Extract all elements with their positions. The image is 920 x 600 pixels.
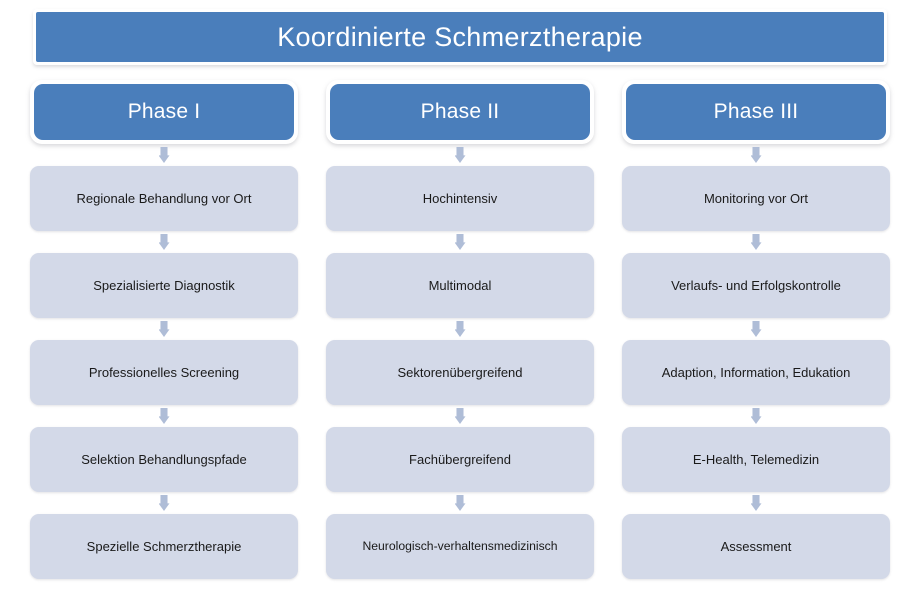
phase-header-frame-1: Phase I: [30, 80, 298, 144]
phase-header-label-1: Phase I: [128, 100, 201, 124]
connector-2-0: [326, 144, 594, 166]
step-box-3-3[interactable]: Adaption, Information, Edukation: [622, 340, 890, 405]
step-label-2-5: Neurologisch-verhaltensmedizinisch: [362, 539, 557, 554]
down-arrow-icon: [751, 234, 762, 250]
phase-header-label-3: Phase III: [714, 100, 799, 124]
connector-1-3: [30, 405, 298, 427]
down-arrow-icon: [455, 408, 466, 424]
step-box-2-3[interactable]: Sektorenübergreifend: [326, 340, 594, 405]
down-arrow-icon: [751, 495, 762, 511]
step-box-3-5[interactable]: Assessment: [622, 514, 890, 579]
step-box-3-4[interactable]: E-Health, Telemedizin: [622, 427, 890, 492]
connector-1-1: [30, 231, 298, 253]
step-label-3-5: Assessment: [721, 539, 792, 555]
step-label-1-3: Professionelles Screening: [89, 365, 239, 381]
step-label-1-5: Spezielle Schmerztherapie: [87, 539, 242, 555]
step-box-1-5[interactable]: Spezielle Schmerztherapie: [30, 514, 298, 579]
connector-3-2: [622, 318, 890, 340]
connector-2-3: [326, 405, 594, 427]
step-label-2-2: Multimodal: [429, 278, 492, 294]
step-label-3-3: Adaption, Information, Edukation: [662, 365, 851, 381]
connector-1-4: [30, 492, 298, 514]
connector-3-1: [622, 231, 890, 253]
phase-header-1[interactable]: Phase I: [34, 84, 294, 140]
step-label-3-2: Verlaufs- und Erfolgskontrolle: [671, 278, 841, 294]
phase-header-frame-2: Phase II: [326, 80, 594, 144]
step-box-2-4[interactable]: Fachübergreifend: [326, 427, 594, 492]
down-arrow-icon: [455, 147, 466, 163]
phase-column-1: Phase I Regionale Behandlung vor Ort Spe…: [30, 80, 298, 579]
down-arrow-icon: [455, 495, 466, 511]
step-label-2-4: Fachübergreifend: [409, 452, 511, 468]
step-box-3-2[interactable]: Verlaufs- und Erfolgskontrolle: [622, 253, 890, 318]
step-box-1-3[interactable]: Professionelles Screening: [30, 340, 298, 405]
connector-1-2: [30, 318, 298, 340]
down-arrow-icon: [159, 408, 170, 424]
step-box-1-4[interactable]: Selektion Behandlungspfade: [30, 427, 298, 492]
connector-2-1: [326, 231, 594, 253]
connector-3-4: [622, 492, 890, 514]
down-arrow-icon: [751, 408, 762, 424]
down-arrow-icon: [455, 321, 466, 337]
step-box-2-5[interactable]: Neurologisch-verhaltensmedizinisch: [326, 514, 594, 579]
phase-header-3[interactable]: Phase III: [626, 84, 886, 140]
page-title: Koordinierte Schmerztherapie: [277, 22, 643, 53]
down-arrow-icon: [159, 321, 170, 337]
step-label-1-1: Regionale Behandlung vor Ort: [77, 191, 252, 207]
connector-3-0: [622, 144, 890, 166]
phase-header-label-2: Phase II: [421, 100, 500, 124]
connector-3-3: [622, 405, 890, 427]
phase-column-2: Phase II Hochintensiv Multimodal Sektore…: [326, 80, 594, 579]
step-label-3-1: Monitoring vor Ort: [704, 191, 808, 207]
step-label-1-4: Selektion Behandlungspfade: [81, 452, 247, 468]
step-label-1-2: Spezialisierte Diagnostik: [93, 278, 235, 294]
step-box-3-1[interactable]: Monitoring vor Ort: [622, 166, 890, 231]
step-box-2-2[interactable]: Multimodal: [326, 253, 594, 318]
down-arrow-icon: [751, 321, 762, 337]
down-arrow-icon: [159, 495, 170, 511]
down-arrow-icon: [455, 234, 466, 250]
step-box-2-1[interactable]: Hochintensiv: [326, 166, 594, 231]
step-label-3-4: E-Health, Telemedizin: [693, 452, 819, 468]
connector-2-2: [326, 318, 594, 340]
connector-2-4: [326, 492, 594, 514]
step-box-1-1[interactable]: Regionale Behandlung vor Ort: [30, 166, 298, 231]
step-box-1-2[interactable]: Spezialisierte Diagnostik: [30, 253, 298, 318]
down-arrow-icon: [159, 234, 170, 250]
phase-column-3: Phase III Monitoring vor Ort Verlaufs- u…: [622, 80, 890, 579]
title-banner-fill: Koordinierte Schmerztherapie: [36, 12, 884, 62]
down-arrow-icon: [751, 147, 762, 163]
phase-header-2[interactable]: Phase II: [330, 84, 590, 140]
down-arrow-icon: [159, 147, 170, 163]
phase-columns: Phase I Regionale Behandlung vor Ort Spe…: [0, 80, 920, 579]
connector-1-0: [30, 144, 298, 166]
step-label-2-1: Hochintensiv: [423, 191, 497, 207]
title-banner: Koordinierte Schmerztherapie: [33, 9, 887, 65]
step-label-2-3: Sektorenübergreifend: [397, 365, 522, 381]
phase-header-frame-3: Phase III: [622, 80, 890, 144]
